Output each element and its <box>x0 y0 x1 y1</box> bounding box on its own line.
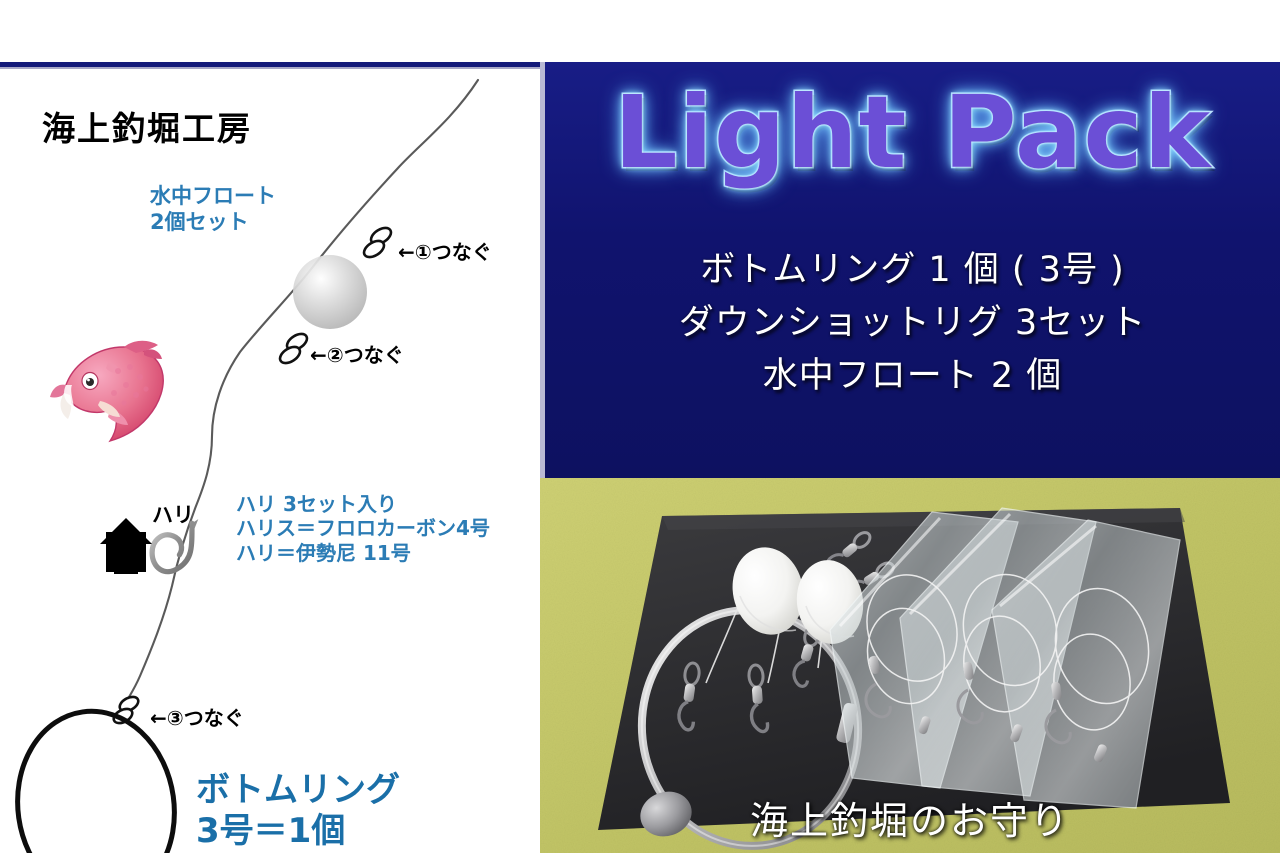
product-photo: 海上釣堀のお守り <box>540 478 1280 853</box>
top-white-band <box>0 0 1280 62</box>
product-spec-panel: Light Pack ボトムリング 1 個 ( 3号 ) ダウンショットリグ 3… <box>545 62 1280 478</box>
bottom-ring-label: ボトムリング 3号＝1個 <box>196 770 496 853</box>
connector-2 <box>277 331 310 367</box>
spec-item: ダウンショットリグ 3セット <box>545 297 1280 350</box>
rig-diagram-graphic <box>0 62 540 853</box>
hook-spec-label: ハリ 3セット入り ハリス＝フロロカーボン4号 ハリ＝伊勢尼 11号 <box>236 492 490 565</box>
page-title: Light Pack <box>545 80 1280 185</box>
sea-bream-icon <box>50 341 163 441</box>
spec-item: 水中フロート 2 個 <box>545 350 1280 403</box>
brand-title: 海上釣堀工房 <box>42 102 252 150</box>
product-photo-graphic <box>540 478 1280 853</box>
spec-item: ボトムリング 1 個 ( 3号 ) <box>545 244 1280 297</box>
poster-canvas: 海上釣堀工房 水中フロート 2個セット ハリ ハリ 3セット入り ハリス＝フロロ… <box>0 0 1280 853</box>
spec-list: ボトムリング 1 個 ( 3号 ) ダウンショットリグ 3セット 水中フロート … <box>545 244 1280 404</box>
rig-diagram-panel: 海上釣堀工房 水中フロート 2個セット ハリ ハリ 3セット入り ハリス＝フロロ… <box>0 62 540 853</box>
annotation-2: ←②つなぐ <box>310 339 404 368</box>
hook-pointer-label: ハリ <box>152 499 194 529</box>
arrow-up-icon <box>100 518 152 574</box>
connector-1 <box>361 225 394 261</box>
annotation-3: ←③つなぐ <box>150 702 244 731</box>
annotation-1: ←①つなぐ <box>398 236 492 265</box>
underwater-float-icon <box>293 255 367 329</box>
float-label: 水中フロート 2個セット <box>150 184 276 235</box>
